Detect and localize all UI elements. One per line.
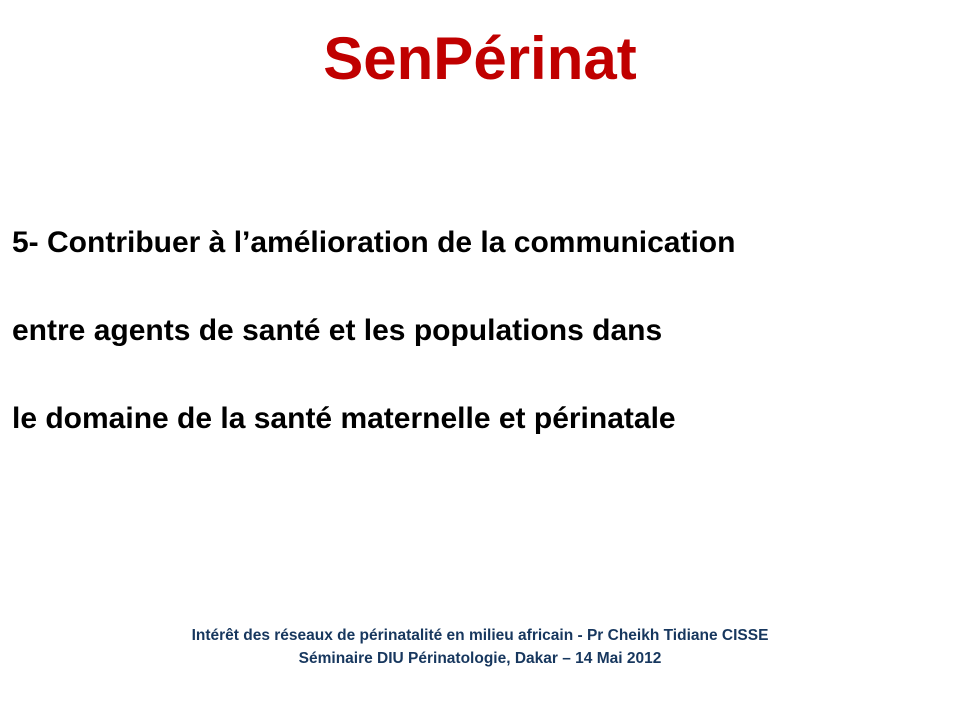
body-line-1: 5- Contribuer à l’amélioration de la com… [12,228,948,258]
slide-footer: Intérêt des réseaux de périnatalité en m… [0,624,960,671]
body-line-3: le domaine de la santé maternelle et pér… [12,404,948,434]
footer-line-1: Intérêt des réseaux de périnatalité en m… [0,624,960,647]
slide: SenPérinat 5- Contribuer à l’amélioratio… [0,0,960,720]
footer-line-2: Séminaire DIU Périnatologie, Dakar – 14 … [0,647,960,670]
page-title: SenPérinat [0,26,960,92]
body-line-2: entre agents de santé et les populations… [12,316,948,346]
slide-body: 5- Contribuer à l’amélioration de la com… [12,228,948,492]
